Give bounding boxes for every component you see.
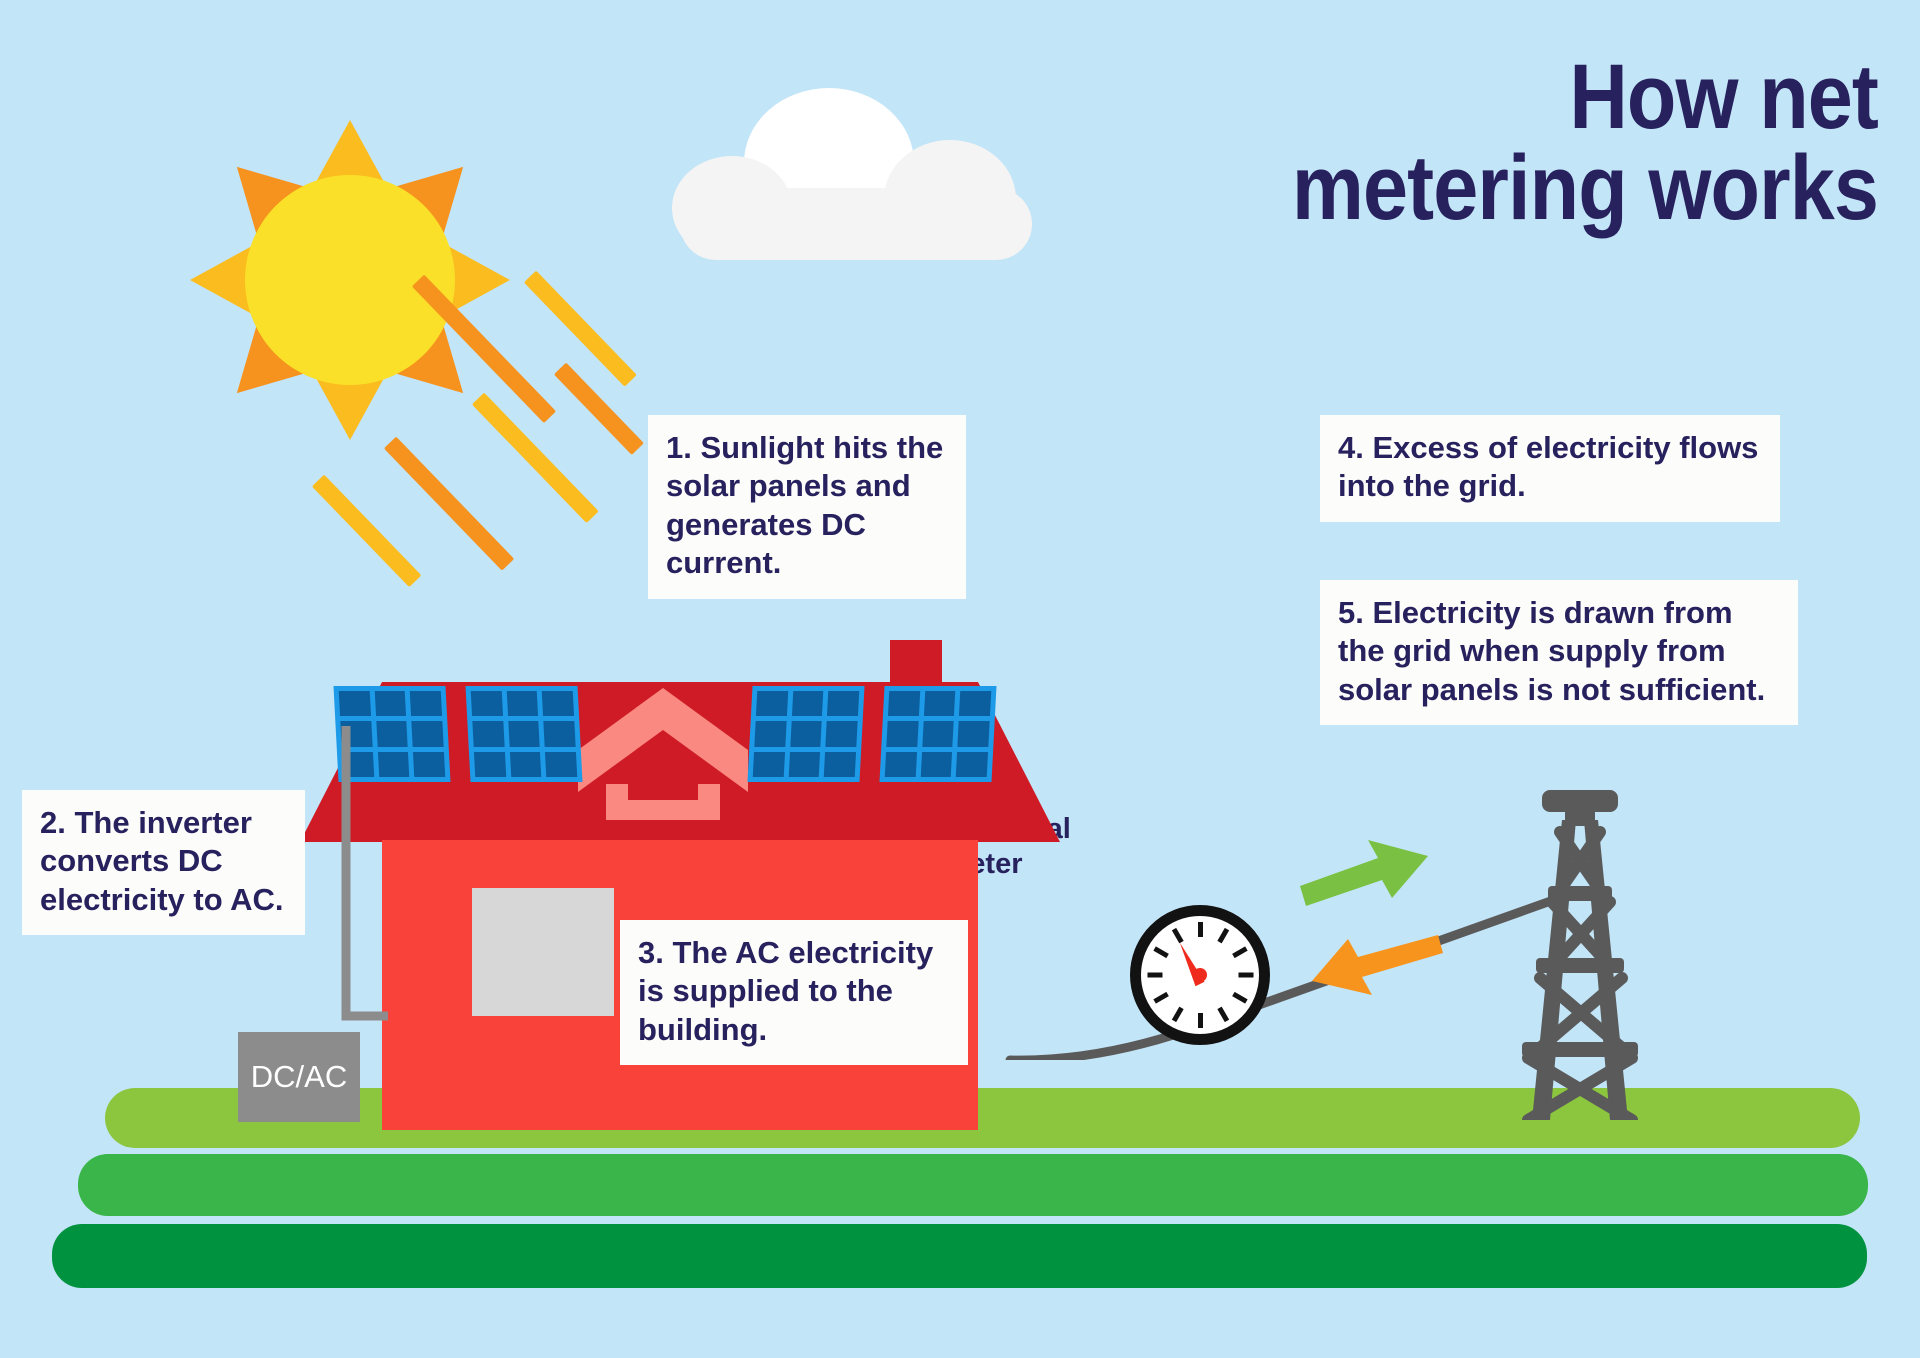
infographic-canvas: How net metering works: [0, 0, 1920, 1358]
house-window: [472, 888, 614, 1016]
solar-panel-icon: [747, 686, 864, 782]
inverter-label: DC/AC: [251, 1059, 347, 1095]
inverter-icon: DC/AC: [238, 1032, 360, 1122]
solar-panel-icon: [465, 686, 582, 782]
solar-panel-icon: [879, 686, 996, 782]
callout-step-5: 5. Electricity is drawn from the grid wh…: [1320, 580, 1798, 725]
callout-step-1: 1. Sunlight hits the solar panels and ge…: [648, 415, 966, 599]
analog-meter-icon: [1130, 905, 1270, 1045]
page-title: How net metering works: [1209, 52, 1878, 234]
callout-step-4: 4. Excess of electricity flows into the …: [1320, 415, 1780, 522]
arrow-down-left-icon: [1310, 935, 1445, 1010]
grass-band-dark: [52, 1224, 1867, 1288]
home-glyph-icon: [578, 688, 748, 820]
grass-band-mid: [78, 1154, 1868, 1216]
meter-hub: [1193, 968, 1207, 982]
conduit-cable: [336, 726, 396, 1046]
callout-step-2: 2. The inverter converts DC electricity …: [22, 790, 305, 935]
cloud-icon: [672, 88, 1042, 268]
arrow-up-right-icon: [1300, 840, 1430, 910]
callout-step-3: 3. The AC electricity is supplied to the…: [620, 920, 968, 1065]
sunbeam-ray: [312, 475, 421, 588]
transmission-tower-icon: [1480, 790, 1680, 1120]
